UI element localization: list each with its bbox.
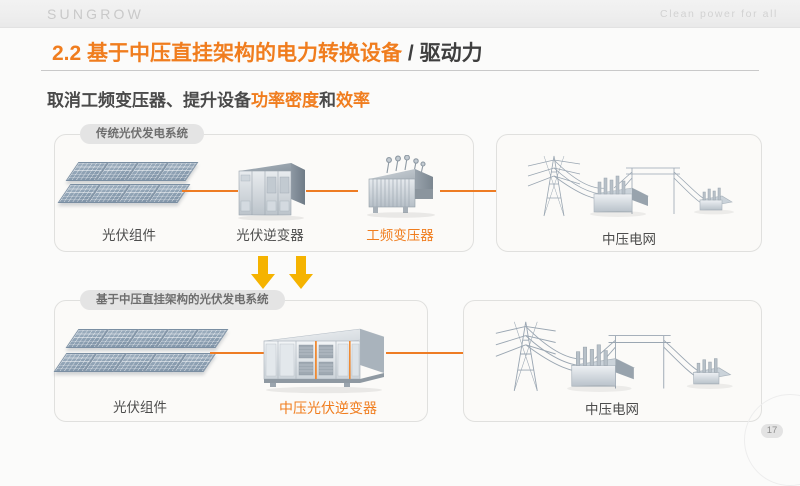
wire-inverter-to-transformer-row1: [306, 190, 358, 192]
row2-pv-caption: 光伏组件: [70, 396, 210, 416]
power-grid-icon: [514, 144, 744, 224]
traditional-system-badge: 传统光伏发电系统: [80, 124, 204, 144]
pv-array-icon: [64, 158, 194, 220]
title-divider: [41, 70, 759, 71]
power-grid-icon: [478, 308, 746, 400]
title-sub-text: 驱动力: [420, 42, 483, 65]
arrow-down-icon: [288, 256, 314, 290]
subtitle-part-1: 取消工频变压器、提升设备: [47, 91, 251, 110]
wire-pv-to-inverter-row1: [182, 190, 238, 192]
page-title: 2.2 基于中压直挂架构的电力转换设备 / 驱动力: [52, 37, 483, 67]
subtitle-part-2: 和: [319, 91, 336, 110]
row1-grid-caption: 中压电网: [559, 228, 699, 248]
title-separator: /: [408, 42, 414, 65]
arrow-down-icon: [250, 256, 276, 290]
inverter-cabinet-icon: [233, 161, 307, 221]
page-number-badge: 17: [761, 424, 783, 438]
title-main-text: 基于中压直挂架构的电力转换设备: [87, 42, 402, 65]
row1-transformer-caption: 工频变压器: [352, 224, 448, 244]
subtitle-highlight-1: 功率密度: [251, 91, 319, 110]
sungrow-logo: SUNGROW: [47, 6, 144, 22]
pv-array-icon: [60, 325, 220, 391]
header-tagline: Clean power for all: [660, 8, 778, 20]
row1-inverter-caption: 光伏逆变器: [222, 224, 318, 244]
page-subtitle: 取消工频变压器、提升设备功率密度和效率: [47, 86, 370, 111]
line-frequency-transformer-icon: [357, 155, 443, 221]
row1-pv-caption: 光伏组件: [64, 224, 194, 244]
subtitle-highlight-2: 效率: [336, 91, 370, 110]
section-number: 2.2: [52, 42, 81, 65]
slide-header: SUNGROW Clean power for all: [0, 0, 800, 28]
row2-grid-caption: 中压电网: [542, 398, 682, 418]
row2-mv-inverter-caption: 中压光伏逆变器: [258, 398, 398, 418]
mv-inverter-container-icon: [258, 325, 388, 395]
mv-system-badge: 基于中压直挂架构的光伏发电系统: [80, 290, 285, 310]
